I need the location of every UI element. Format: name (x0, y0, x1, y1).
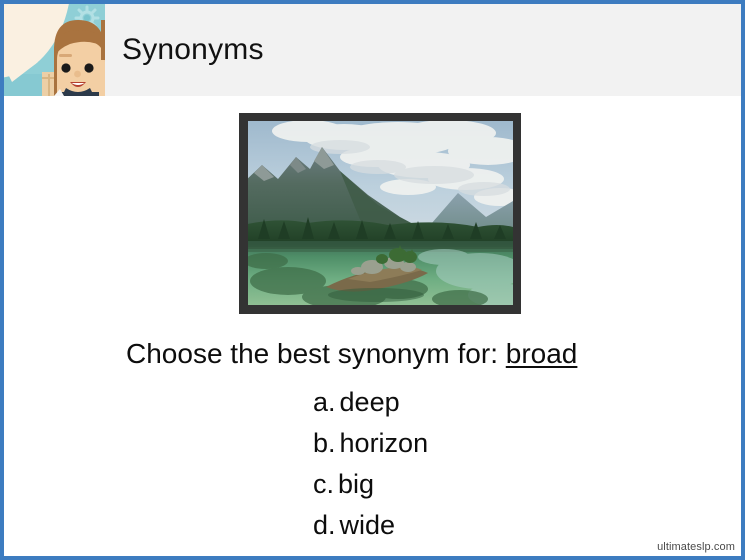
option-c-letter: c. (313, 469, 334, 499)
option-a-letter: a. (313, 387, 336, 417)
header-band (4, 4, 741, 96)
speech-therapist-avatar-icon (4, 4, 105, 96)
option-a-label: deep (340, 387, 400, 417)
mountain-lake-photo (248, 121, 513, 305)
avatar (4, 4, 105, 96)
option-a[interactable]: a.deep (313, 382, 428, 423)
option-b-letter: b. (313, 428, 336, 458)
question-text: Choose the best synonym for: (126, 338, 498, 369)
answer-options: a.deep b.horizon c.big d.wide (313, 382, 428, 546)
watermark: ultimateslp.com (657, 541, 735, 553)
option-d[interactable]: d.wide (313, 505, 428, 546)
option-c[interactable]: c.big (313, 464, 428, 505)
mountain-lake-photo-icon (248, 121, 513, 305)
question-prompt: Choose the best synonym for: broad (126, 338, 577, 370)
target-word: broad (506, 338, 578, 369)
photo-frame (239, 113, 521, 314)
option-c-label: big (338, 469, 374, 499)
option-d-label: wide (340, 510, 396, 540)
option-b[interactable]: b.horizon (313, 423, 428, 464)
page-title: Synonyms (122, 33, 264, 67)
option-b-label: horizon (340, 428, 429, 458)
option-d-letter: d. (313, 510, 336, 540)
slide: Synonyms (0, 0, 745, 560)
